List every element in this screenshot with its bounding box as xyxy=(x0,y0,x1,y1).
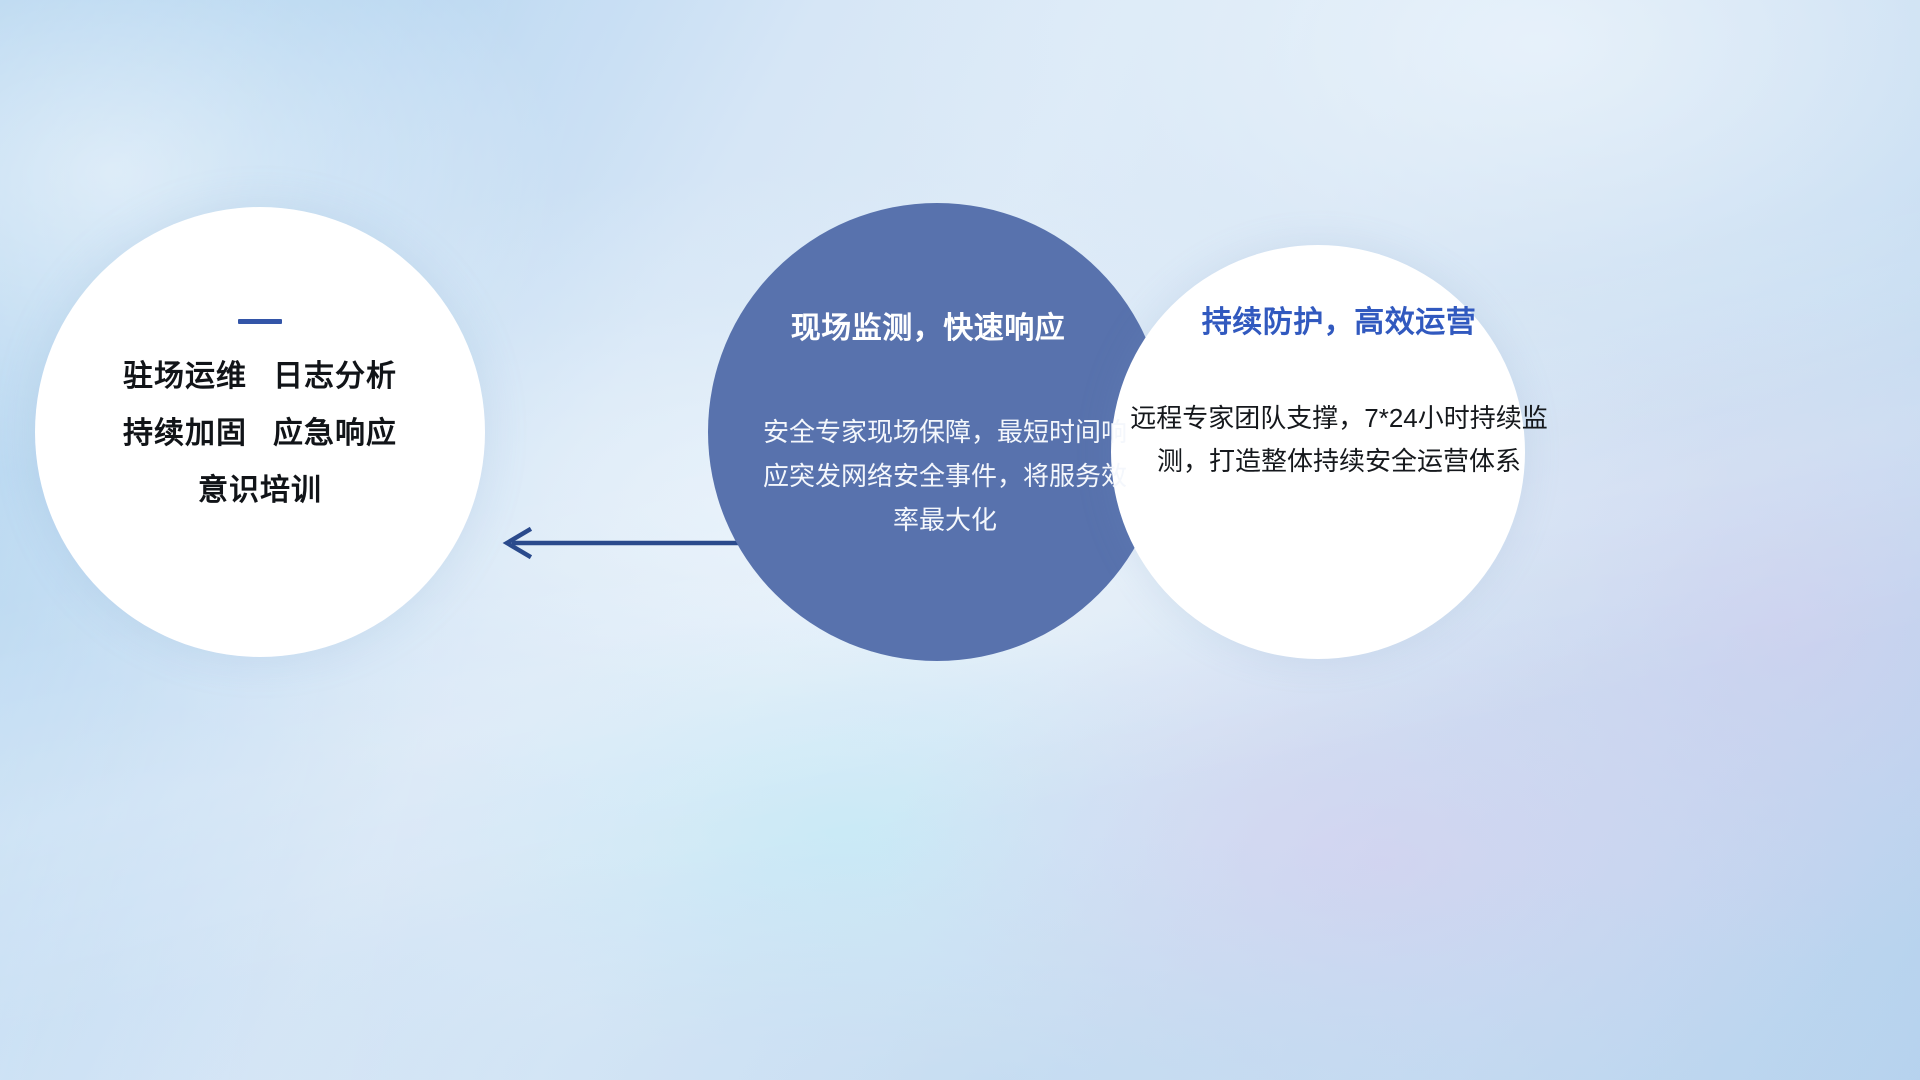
middle-circle-title: 现场监测，快速响应 xyxy=(708,303,1148,347)
list-item: 意识培训 xyxy=(123,476,397,506)
infographic-stage: 驻场运维日志分析 持续加固应急响应 意识培训 现场监测，快速响应 安全专家现场保… xyxy=(0,0,1920,1080)
middle-circle-body: 安全专家现场保障，最短时间响应突发网络安全事件，将服务效率最大化 xyxy=(758,410,1132,542)
list-item: 持续加固应急响应 xyxy=(123,419,397,449)
list-item: 驻场运维日志分析 xyxy=(123,362,397,392)
right-circle-body: 远程专家团队支撑，7*24小时持续监测，打造整体持续安全运营体系 xyxy=(1115,397,1563,483)
capability-list: 驻场运维日志分析 持续加固应急响应 意识培训 xyxy=(123,362,397,506)
middle-circle-content: 现场监测，快速响应 安全专家现场保障，最短时间响应突发网络安全事件，将服务效率最… xyxy=(708,203,1166,661)
accent-divider xyxy=(238,319,282,324)
capability-label: 持续加固 xyxy=(123,417,247,450)
left-circle-content: 驻场运维日志分析 持续加固应急响应 意识培训 xyxy=(35,207,485,657)
capability-label: 意识培训 xyxy=(198,474,322,507)
right-circle-content: 持续防护，高效运营 远程专家团队支撑，7*24小时持续监测，打造整体持续安全运营… xyxy=(1111,245,1525,659)
right-circle-title: 持续防护，高效运营 xyxy=(1117,297,1561,341)
capability-label: 日志分析 xyxy=(273,360,397,393)
leftward-flow-arrow xyxy=(485,515,740,571)
capability-label: 应急响应 xyxy=(273,417,397,450)
capability-label: 驻场运维 xyxy=(123,360,247,393)
